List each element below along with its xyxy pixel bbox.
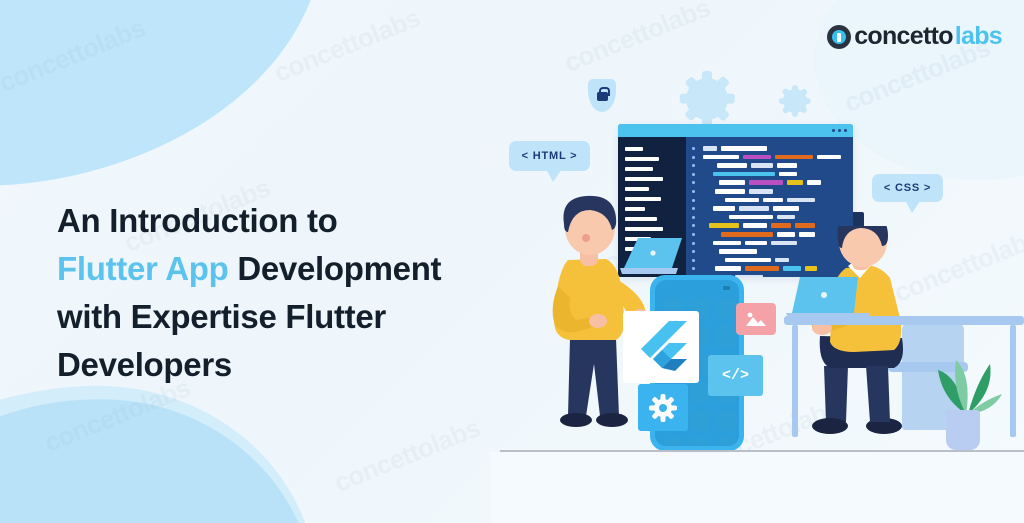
css-bubble: < CSS > — [872, 174, 943, 202]
watermark: concettolabs — [330, 412, 485, 499]
flutter-blog-banner: concettolabs concettolabs concettolabs c… — [0, 0, 1024, 523]
editor-gutter — [692, 147, 695, 277]
desk-leg — [1010, 325, 1016, 437]
headline-accent: Flutter App — [57, 250, 228, 287]
plant-leaves — [928, 358, 1006, 414]
html-bubble: < HTML > — [509, 141, 590, 171]
plant-pot — [946, 410, 980, 450]
headline-line-3: with Expertise Flutter — [57, 298, 386, 335]
watermark: concettolabs — [0, 12, 150, 99]
hero-illustration: </> < HTML > < CSS > — [490, 0, 1024, 523]
flutter-logo-card — [623, 311, 699, 383]
background-blob-top — [0, 0, 346, 208]
headline-line-1: An Introduction to — [57, 202, 338, 239]
gear-small-icon — [783, 89, 807, 113]
background-blob-bottom — [0, 382, 330, 523]
watermark: concettolabs — [270, 2, 425, 89]
editor-title-bar — [618, 124, 853, 137]
headline-line-2: Development — [228, 250, 441, 287]
floor-line — [500, 450, 1024, 452]
shield-lock-icon — [588, 79, 616, 112]
desk-leg — [792, 325, 798, 437]
desk-laptop — [784, 271, 874, 321]
window-dot — [844, 129, 847, 132]
background-blob-top-soft — [0, 0, 308, 121]
seated-developer — [790, 226, 950, 456]
image-icon-card — [736, 303, 776, 335]
desk-surface — [784, 316, 1024, 325]
gear-large-icon — [686, 78, 728, 120]
gear-icon — [649, 394, 677, 422]
handheld-laptop — [620, 232, 688, 276]
gear-icon-card — [638, 384, 688, 431]
code-tag-card: </> — [708, 355, 763, 396]
background-blob-bottom-soft — [0, 374, 323, 523]
picture-icon — [744, 310, 768, 328]
headline-line-4: Developers — [57, 346, 232, 383]
floor-shade — [490, 452, 1024, 523]
flutter-logo-icon — [635, 319, 687, 375]
window-dot — [832, 129, 835, 132]
page-title: An Introduction to Flutter App Developme… — [57, 197, 527, 388]
window-dot — [838, 129, 841, 132]
